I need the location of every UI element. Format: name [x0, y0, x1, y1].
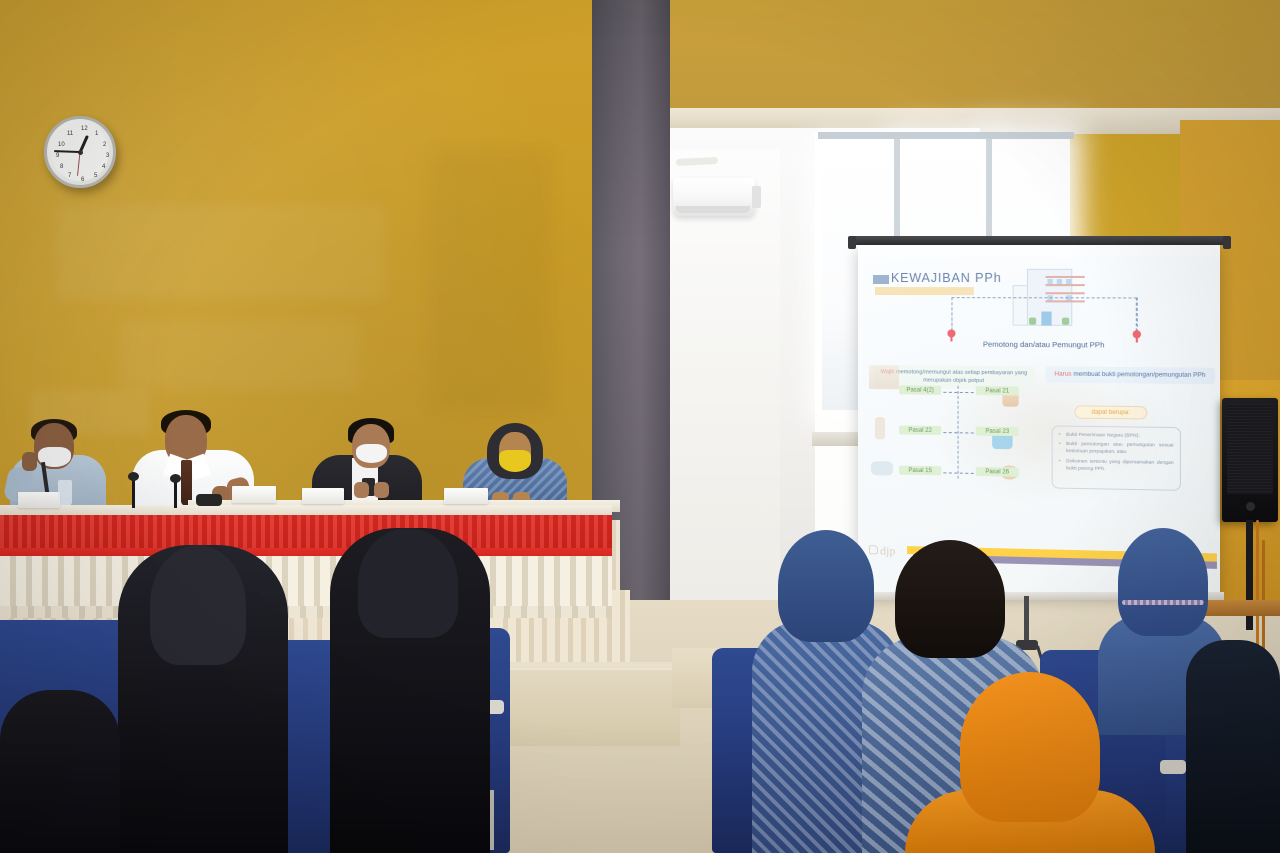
seminar-room-photo: 12 1 2 3 4 5 6 7 8 9 10 11 KEWAJIBAN PPh — [0, 0, 1280, 853]
clock-numeral: 5 — [94, 173, 97, 179]
wall-scuff — [55, 205, 385, 300]
attendee-left-3 — [0, 690, 120, 853]
djp-logo: djp — [880, 543, 895, 558]
power-cable — [1262, 540, 1265, 650]
ac-wall-box — [752, 186, 761, 208]
map-pin-icon — [947, 329, 955, 337]
pasal-chip: Pasal 4(2) — [899, 385, 941, 394]
dashed-line — [1137, 297, 1138, 332]
title-tab-decoration — [873, 275, 889, 284]
wall-clock: 12 1 2 3 4 5 6 7 8 9 10 11 — [44, 116, 116, 188]
slide-title: KEWAJIBAN PPh — [891, 271, 1002, 285]
dapat-berupa-chip: dapat berupa: — [1074, 405, 1147, 419]
clock-numeral: 11 — [67, 131, 73, 137]
speaker-driver — [1246, 502, 1255, 511]
microphone-base — [196, 494, 222, 506]
attendee-right-4-hijab — [1118, 528, 1208, 636]
clock-numeral: 7 — [68, 173, 71, 179]
dashed-connector — [951, 297, 1136, 336]
clock-numeral: 2 — [103, 142, 106, 148]
bullet-list-box: Bukti Penerimaan Negara (BPN); Bukti pem… — [1052, 425, 1181, 490]
ac-vent — [676, 206, 750, 213]
pasal-chip: Pasal 15 — [899, 466, 941, 476]
vertical-dashed-line — [958, 386, 959, 479]
pasal-chip: Pasal 22 — [899, 425, 941, 435]
right-panel-text: membuat bukti pemotongan/pemungutan PPh — [1072, 371, 1206, 379]
wall-scuff — [120, 320, 360, 390]
clock-numeral: 4 — [102, 164, 105, 170]
clock-numeral: 6 — [81, 177, 84, 183]
clock-numeral: 9 — [56, 153, 59, 159]
machine-icon — [871, 461, 893, 475]
attendee-right-3-orange-hijab — [960, 672, 1100, 822]
panelist-3-face-mask — [356, 444, 387, 463]
center-role-label: Pemotong dan/atau Pemungut PPh — [943, 339, 1145, 349]
left-panel-text: memotong/memungut atas setiap pembayaran… — [894, 369, 1027, 383]
screen-bar-end — [848, 236, 856, 249]
panelist-3-hand — [374, 482, 389, 498]
drinking-glass — [58, 480, 72, 506]
microphone-icon — [128, 472, 139, 481]
clock-center-pin — [78, 150, 83, 155]
clock-second-hand — [77, 152, 81, 176]
clock-numeral: 3 — [106, 153, 109, 159]
panelist-3-hand — [354, 482, 369, 498]
name-card — [18, 492, 60, 508]
djp-mark-icon — [869, 545, 878, 554]
connector-arrow — [943, 472, 973, 474]
title-underline — [875, 287, 974, 295]
list-item: Bukti Penerimaan Negara (BPN); — [1059, 432, 1174, 441]
clock-numeral: 12 — [81, 126, 88, 132]
map-pin-icon — [1133, 330, 1141, 338]
attendee-right-5 — [1186, 640, 1280, 853]
lamp-icon — [875, 417, 885, 439]
clock-numeral: 1 — [95, 131, 98, 137]
factory-icon — [869, 365, 899, 389]
power-cable — [1256, 520, 1259, 650]
panelist-1-hand — [22, 452, 37, 471]
clock-numeral: 10 — [58, 142, 65, 148]
pa-speaker — [1222, 398, 1278, 522]
connector-arrow — [943, 432, 973, 433]
microphone-stand — [174, 480, 177, 508]
window-header — [818, 132, 1074, 139]
pasal-chip: Pasal 26 — [976, 467, 1019, 477]
panelist-4-face-mask — [499, 450, 531, 472]
pasal-chip: Pasal 23 — [976, 426, 1019, 436]
pasal-chip: Pasal 21 — [976, 386, 1019, 396]
speaker-grille — [1227, 404, 1273, 494]
screen-bar-end — [1223, 236, 1231, 249]
attendee-right-4-beaded-band — [1122, 600, 1204, 605]
attendee-right-2-hair — [895, 540, 1005, 658]
attendee-right-1-hijab — [778, 530, 874, 642]
connector-arrow — [943, 392, 973, 393]
stage-platform — [495, 668, 680, 746]
right-highlight-word: Harus — [1054, 371, 1071, 378]
list-item: Bukti pemotongan atau pemungutan sesuai … — [1059, 441, 1174, 457]
right-obligation-panel: Harus membuat bukti pemotongan/pemunguta… — [1045, 366, 1214, 384]
clock-face: 12 1 2 3 4 5 6 7 8 9 10 11 — [51, 123, 109, 181]
wall-scuff — [430, 150, 550, 410]
chair-armrest — [1160, 760, 1186, 774]
list-item: Dokumen tertentu yang dipersamakan denga… — [1059, 458, 1174, 475]
name-card — [232, 486, 276, 503]
clock-numeral: 8 — [60, 164, 63, 170]
screen-top-bar — [852, 236, 1227, 245]
dashed-line — [951, 297, 952, 331]
microphone-icon — [170, 474, 181, 483]
name-card — [444, 488, 488, 504]
white-wall-column — [670, 150, 780, 650]
table-frill-scallop — [0, 606, 612, 618]
attendee-left-1-veil — [150, 545, 246, 665]
attendee-left-2-veil — [358, 528, 458, 638]
name-card — [302, 488, 344, 504]
microphone-stand — [132, 478, 135, 508]
